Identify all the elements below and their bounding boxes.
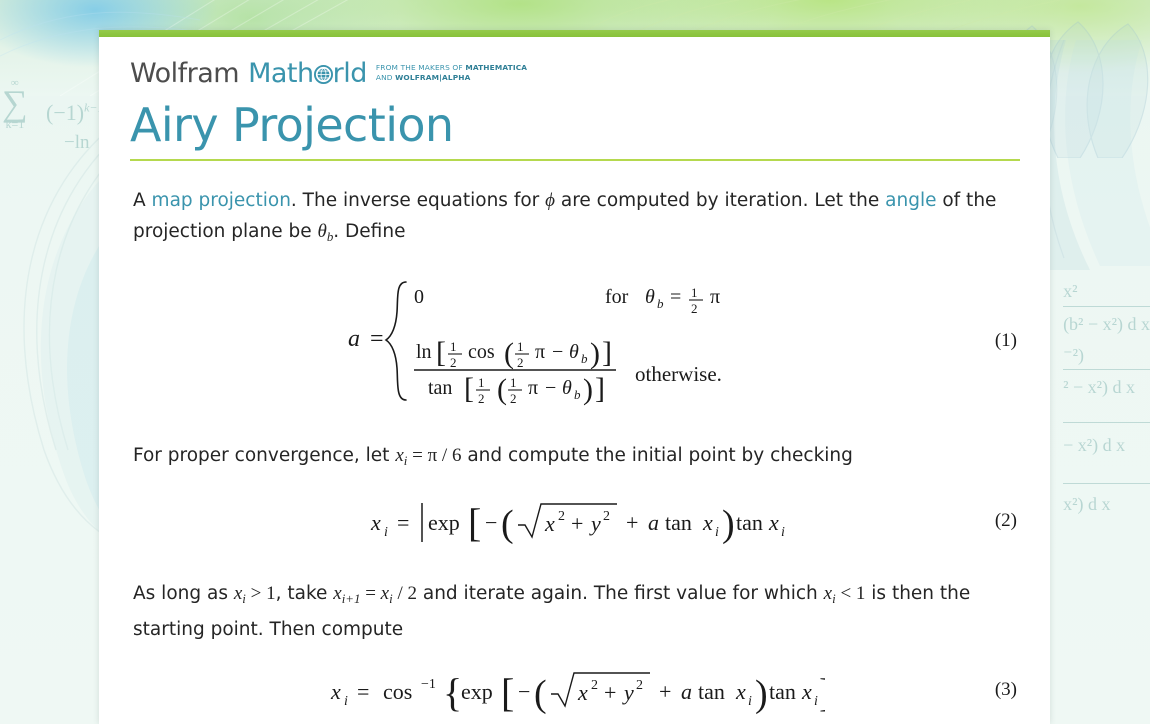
svg-text:cos: cos [468, 341, 495, 363]
card-top-accent-bar [99, 30, 1050, 37]
svg-text:1: 1 [450, 339, 457, 354]
svg-text:x: x [544, 511, 555, 536]
svg-text:π: π [528, 377, 538, 399]
p1-seg-a: A [133, 190, 152, 211]
svg-text:2: 2 [478, 391, 485, 406]
svg-text:y: y [622, 680, 634, 705]
content-card: Wolfram Math rld [99, 30, 1050, 724]
svg-text:otherwise.: otherwise. [635, 362, 722, 386]
math-theta-b: θb [318, 221, 334, 242]
equation-3-graphic: x i = cos −1 { exp [ − ( x 2 + [325, 657, 825, 723]
p2-seg-a: For proper convergence, let [133, 445, 395, 466]
svg-text:2: 2 [636, 678, 643, 693]
p1-seg-c: are computed by iteration. Let the [555, 190, 885, 211]
tagline-line-1: FROM THE MAKERS OF MATHEMATICA [376, 63, 527, 72]
svg-text:b: b [574, 387, 581, 402]
svg-text:b: b [657, 296, 664, 311]
math-xi-eq-pi-over-6: xi = π / 6 [395, 445, 461, 466]
svg-text:+: + [571, 511, 583, 536]
equation-2-graphic: x i = exp [ − ( x 2 + y [365, 490, 785, 552]
svg-text:a: a [681, 679, 692, 704]
svg-text:+: + [604, 680, 616, 705]
tagline-line-2: AND WOLFRAM|ALPHA [376, 73, 471, 82]
svg-text:): ) [722, 503, 735, 545]
equation-2-number: (2) [995, 510, 1017, 532]
svg-text:tan: tan [665, 510, 692, 535]
svg-text:x: x [370, 510, 381, 535]
svg-text:i: i [814, 694, 818, 709]
svg-text:i: i [344, 694, 348, 709]
svg-text:{: { [443, 670, 462, 715]
svg-text:a: a [348, 326, 360, 352]
svg-text:for: for [605, 286, 629, 308]
logo-world-word: rld [333, 59, 367, 89]
svg-text:2: 2 [591, 678, 598, 693]
svg-text:π: π [535, 341, 545, 363]
svg-text:θ: θ [645, 286, 655, 308]
p3-seg-a: As long as [133, 583, 234, 604]
equation-1-graphic: a = 0 for θ b = 1 2 π [340, 266, 810, 416]
paragraph-2: For proper convergence, let xi = π / 6 a… [130, 440, 1019, 476]
p1-seg-e: . Define [333, 221, 405, 242]
svg-text:i: i [781, 525, 785, 540]
svg-text:tan: tan [698, 679, 725, 704]
logo-tagline: FROM THE MAKERS OF MATHEMATICA AND WOLFR… [376, 63, 527, 82]
svg-text:(: ( [504, 337, 514, 370]
svg-text:ln: ln [416, 341, 432, 363]
svg-text:2: 2 [691, 301, 698, 316]
svg-text:−: − [518, 679, 530, 704]
svg-text:θ: θ [569, 341, 579, 363]
svg-text:=: = [670, 286, 681, 308]
svg-text:]: ] [595, 372, 605, 405]
svg-text:x: x [577, 680, 588, 705]
svg-text:i: i [384, 525, 388, 540]
site-logo[interactable]: Wolfram Math rld [130, 59, 1019, 93]
math-xi1-eq-xi-over-2: xi+1 = xi / 2 [333, 583, 417, 604]
svg-text:x: x [768, 510, 779, 535]
p3-seg-c: and iterate again. The first value for w… [417, 583, 824, 604]
svg-text:[: [ [464, 372, 474, 405]
svg-text:=: = [370, 326, 384, 352]
equation-2-block: x i = exp [ − ( x 2 + y [130, 490, 1019, 552]
svg-text:y: y [589, 511, 601, 536]
svg-text:−: − [552, 341, 563, 363]
svg-text:a: a [648, 510, 659, 535]
svg-text:1: 1 [517, 339, 524, 354]
svg-text:1: 1 [478, 375, 485, 390]
paragraph-3: As long as xi > 1, take xi+1 = xi / 2 an… [130, 578, 1019, 645]
svg-text:2: 2 [558, 509, 565, 524]
svg-text:=: = [357, 679, 369, 704]
svg-text:1: 1 [691, 285, 698, 300]
svg-text:b: b [581, 351, 588, 366]
svg-text:−: − [485, 510, 497, 535]
svg-text:(: ( [501, 503, 514, 545]
svg-text:+: + [659, 679, 671, 704]
page-root: ∞ ∑ k=1 (−1)k−1 −ln x² (b² − x²) d x ⁻²)… [0, 0, 1150, 724]
svg-text:2: 2 [450, 355, 457, 370]
svg-text:exp: exp [428, 510, 460, 535]
svg-text:x: x [702, 510, 713, 535]
svg-text:[: [ [436, 336, 446, 369]
math-phi: ϕ [545, 190, 555, 211]
svg-text:=: = [397, 510, 409, 535]
svg-text:cos: cos [383, 679, 412, 704]
logo-math-word: Math [248, 59, 314, 89]
svg-text:2: 2 [517, 355, 524, 370]
math-xi-gt-1: xi > 1 [234, 583, 276, 604]
svg-text:]: ] [819, 670, 825, 715]
equation-3-block: x i = cos −1 { exp [ − ( x 2 + [130, 657, 1019, 723]
svg-text:1: 1 [510, 375, 517, 390]
svg-text:exp: exp [461, 679, 493, 704]
equation-1-block: a = 0 for θ b = 1 2 π [130, 266, 1019, 416]
svg-text:): ) [755, 673, 768, 715]
link-angle[interactable]: angle [885, 190, 936, 211]
svg-text:+: + [626, 510, 638, 535]
svg-text:x: x [330, 679, 341, 704]
svg-text:x: x [801, 679, 812, 704]
svg-text:i: i [748, 694, 752, 709]
svg-text:x: x [735, 679, 746, 704]
svg-text:−: − [545, 377, 556, 399]
svg-text:2: 2 [510, 391, 517, 406]
svg-text:(: ( [497, 373, 507, 406]
logo-wolfram-text: Wolfram [130, 59, 239, 89]
svg-text:2: 2 [603, 509, 610, 524]
equation-1-number: (1) [995, 330, 1017, 352]
svg-text:π: π [710, 286, 720, 308]
svg-text:): ) [583, 373, 593, 406]
paragraph-1: A map projection. The inverse equations … [130, 185, 1019, 252]
svg-text:θ: θ [562, 377, 572, 399]
svg-text:0: 0 [414, 286, 424, 308]
svg-text:i: i [715, 525, 719, 540]
svg-text:−1: −1 [421, 677, 436, 692]
equation-3-number: (3) [995, 679, 1017, 701]
p2-seg-b: and compute the initial point by checkin… [461, 445, 852, 466]
svg-text:[: [ [501, 670, 514, 715]
svg-text:tan: tan [428, 377, 452, 399]
page-title: Airy Projection [130, 97, 1019, 153]
svg-text:(: ( [534, 673, 547, 715]
svg-text:[: [ [468, 500, 481, 545]
svg-text:): ) [590, 337, 600, 370]
svg-text:]: ] [602, 336, 612, 369]
svg-text:tan: tan [769, 679, 796, 704]
globe-icon [314, 61, 333, 80]
logo-mathworld-text: Math rld [248, 59, 367, 89]
math-xi-lt-1: xi < 1 [824, 583, 866, 604]
svg-text:tan: tan [736, 510, 763, 535]
link-map-projection[interactable]: map projection [152, 190, 291, 211]
p3-seg-b: , take [276, 583, 334, 604]
p1-seg-b: . The inverse equations for [291, 190, 545, 211]
